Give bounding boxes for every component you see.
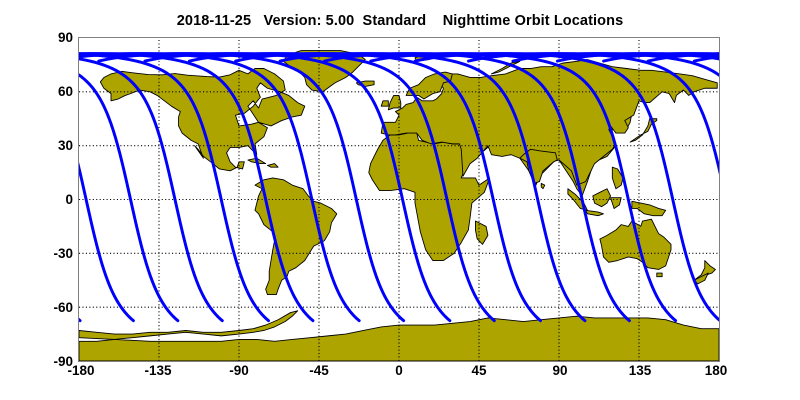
- x-tick-label-m45: -45: [309, 364, 329, 378]
- map-canvas: [79, 38, 719, 361]
- landmass: [541, 183, 545, 188]
- landmass: [632, 201, 666, 215]
- y-tick-label-m60: -60: [53, 301, 73, 315]
- landmass: [255, 178, 337, 295]
- landmass: [593, 189, 611, 207]
- landmass: [586, 210, 604, 215]
- x-tick-label-90: 90: [552, 364, 567, 378]
- landmass: [475, 221, 487, 244]
- x-tick-label-m135: -135: [144, 364, 171, 378]
- map-plot-area[interactable]: [78, 37, 720, 362]
- landmass: [100, 69, 304, 171]
- world-map-svg: [79, 38, 719, 361]
- x-tick-label-m90: -90: [229, 364, 249, 378]
- y-tick-label-30: 30: [58, 139, 73, 153]
- x-tick-label-m180: -180: [67, 364, 94, 378]
- x-tick-label-45: 45: [471, 364, 486, 378]
- x-tick-label-180: 180: [705, 364, 728, 378]
- landmass: [381, 101, 388, 106]
- y-tick-label-0: 0: [65, 193, 73, 207]
- y-tick-label-m30: -30: [53, 247, 73, 261]
- x-tick-label-135: 135: [629, 364, 652, 378]
- x-tick-label-0: 0: [395, 364, 403, 378]
- orbit-track-13: [79, 54, 80, 321]
- orbit-map-figure: 2018-11-25 Version: 5.00 Standard Nightt…: [0, 0, 800, 400]
- figure-title: 2018-11-25 Version: 5.00 Standard Nightt…: [0, 13, 800, 29]
- landmass: [267, 164, 278, 168]
- landmass: [611, 198, 622, 209]
- landmass: [657, 273, 662, 277]
- y-tick-label-60: 60: [58, 85, 73, 99]
- y-tick-label-90: 90: [58, 31, 73, 45]
